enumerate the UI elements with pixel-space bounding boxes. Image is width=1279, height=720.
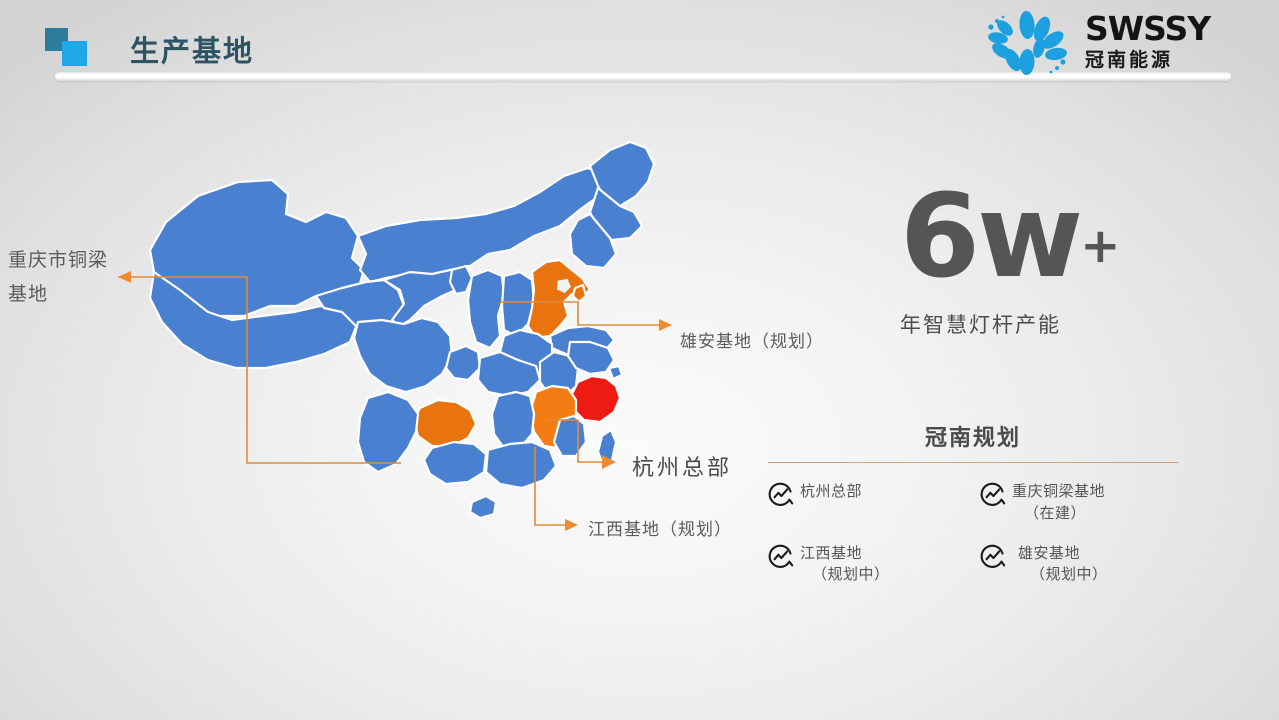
header-square-light-icon: [62, 41, 87, 66]
callout-label-xiongan: 雄安基地（规划）: [680, 327, 824, 352]
plan-item-label: 杭州总部: [800, 482, 862, 500]
plan-item-sub: （规划中）: [1018, 564, 1108, 586]
province-sichuan: [354, 318, 452, 392]
wave-circle-icon: [768, 544, 794, 570]
plan-item-text: 雄安基地 （规划中）: [1012, 543, 1108, 587]
plan-item-hangzhou[interactable]: 杭州总部: [768, 481, 966, 525]
province-hunan: [492, 392, 534, 448]
plan-divider: [768, 462, 1178, 463]
province-zhejiang-highlight: [572, 376, 620, 422]
logo-sub-brand: 冠南能源: [1085, 51, 1210, 70]
stat-caption: 年智慧灯杆产能: [900, 309, 1230, 339]
plan-list: 杭州总部 重庆铜梁基地 （在建）: [768, 481, 1178, 586]
plan-panel: 冠南规划 杭州总部: [768, 420, 1178, 586]
province-taiwan: [598, 430, 616, 464]
plan-item-sub: （规划中）: [800, 564, 890, 586]
swssy-petal-logo-icon: [977, 10, 1077, 78]
plan-item-label: 江西基地: [800, 544, 862, 562]
province-shaanxi: [468, 270, 504, 348]
municipality-tianjin: [573, 285, 586, 302]
province-inner-mongolia: [358, 168, 606, 282]
plan-item-chongqing[interactable]: 重庆铜梁基地 （在建）: [980, 481, 1178, 525]
province-yunnan: [358, 392, 418, 472]
company-logo: SWSSY 冠南能源: [977, 8, 1217, 80]
province-hainan: [470, 496, 496, 518]
wave-circle-icon: [980, 482, 1006, 508]
plan-item-text: 重庆铜梁基地 （在建）: [1012, 481, 1105, 525]
wave-circle-icon: [980, 544, 1006, 570]
stat-plus-sign: +: [1080, 218, 1120, 274]
callout-label-jiangxi: 江西基地（规划）: [588, 515, 732, 540]
province-guangdong: [486, 442, 556, 488]
callout-label-chongqing: 重庆市铜梁基地: [8, 243, 118, 311]
plan-title: 冠南规划: [768, 420, 1178, 452]
wave-circle-icon: [768, 482, 794, 508]
province-guangxi: [424, 442, 486, 484]
province-fujian: [554, 416, 586, 456]
logo-text-block: SWSSY 冠南能源: [1085, 12, 1210, 70]
callout-label-hangzhou: 杭州总部: [632, 450, 732, 482]
plan-item-label: 雄安基地: [1018, 544, 1080, 562]
plan-item-jiangxi[interactable]: 江西基地 （规划中）: [768, 543, 966, 587]
plan-item-xiongan[interactable]: 雄安基地 （规划中）: [980, 543, 1178, 587]
slide-canvas: 生产基地: [0, 0, 1279, 720]
capacity-stat: 6w+ 年智慧灯杆产能: [900, 185, 1230, 339]
province-guizhou-highlight: [414, 400, 476, 446]
plan-item-sub: （在建）: [1012, 503, 1105, 525]
china-provinces-map[interactable]: [120, 130, 680, 560]
page-title: 生产基地: [130, 28, 254, 70]
plan-item-text: 杭州总部: [800, 481, 862, 503]
stat-number-value: 6w: [900, 170, 1080, 304]
plan-item-text: 江西基地 （规划中）: [800, 543, 890, 587]
municipality-shanghai: [609, 366, 622, 379]
logo-brand: SWSSY: [1085, 12, 1210, 45]
stat-number: 6w+: [900, 185, 1230, 291]
municipality-chongqing: [446, 346, 480, 380]
plan-item-label: 重庆铜梁基地: [1012, 482, 1105, 500]
